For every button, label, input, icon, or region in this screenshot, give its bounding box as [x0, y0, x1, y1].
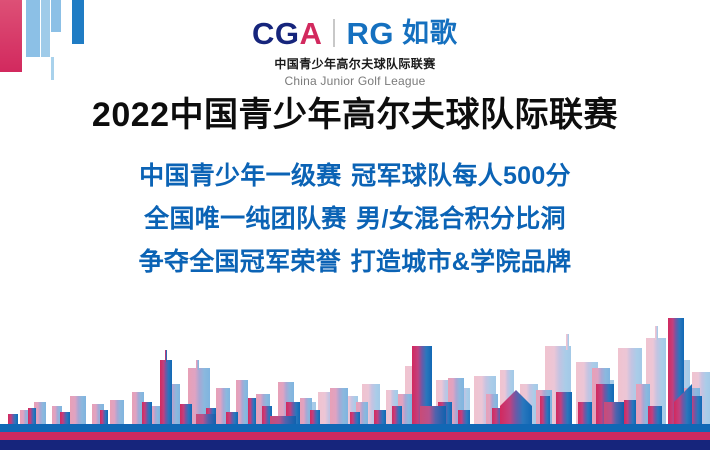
skyline-svg: [0, 284, 710, 424]
logo-subtitle-en: China Junior Golf League: [285, 74, 426, 88]
cga-suffix: A: [300, 16, 323, 51]
logo-divider: [333, 19, 335, 47]
logo-subtitle-cn: 中国青少年高尔夫球队际联赛: [274, 55, 435, 72]
feature-row-1: 中国青少年一级赛 冠军球队每人500分: [139, 160, 571, 194]
city-skyline-graphic: [0, 284, 710, 424]
feature-1-left: 中国青少年一级赛: [139, 160, 351, 194]
page-title: 2022中国青少年高尔夫球队际联赛: [0, 96, 710, 135]
logo-lockup: CGA RG 如歌 中国青少年高尔夫球队际联赛 China Junior Gol…: [0, 16, 710, 88]
stripe-navy: [0, 440, 710, 450]
rugo-wordmark: 如歌: [402, 20, 458, 47]
logo-wordmark-row: CGA RG 如歌: [252, 16, 458, 50]
feature-list: 中国青少年一级赛 冠军球队每人500分 全国唯一纯团队赛 男/女混合积分比洞 争…: [0, 160, 710, 279]
stripe-blue: [0, 424, 710, 432]
feature-2-right: 男/女混合积分比洞: [356, 203, 566, 237]
cga-wordmark: CGA: [252, 18, 322, 49]
poster-canvas: CGA RG 如歌 中国青少年高尔夫球队际联赛 China Junior Gol…: [0, 0, 710, 450]
feature-2-left: 全国唯一纯团队赛: [144, 203, 356, 237]
bottom-stripes: [0, 424, 710, 450]
feature-1-right: 冠军球队每人500分: [351, 160, 571, 194]
feature-row-3: 争夺全国冠军荣誉 打造城市&学院品牌: [139, 246, 572, 280]
stripe-pink: [0, 432, 710, 440]
feature-3-left: 争夺全国冠军荣誉: [139, 246, 351, 280]
feature-row-2: 全国唯一纯团队赛 男/女混合积分比洞: [144, 203, 566, 237]
rg-wordmark: RG: [346, 18, 394, 49]
feature-3-right: 打造城市&学院品牌: [351, 246, 572, 280]
cga-prefix: CG: [252, 16, 300, 51]
